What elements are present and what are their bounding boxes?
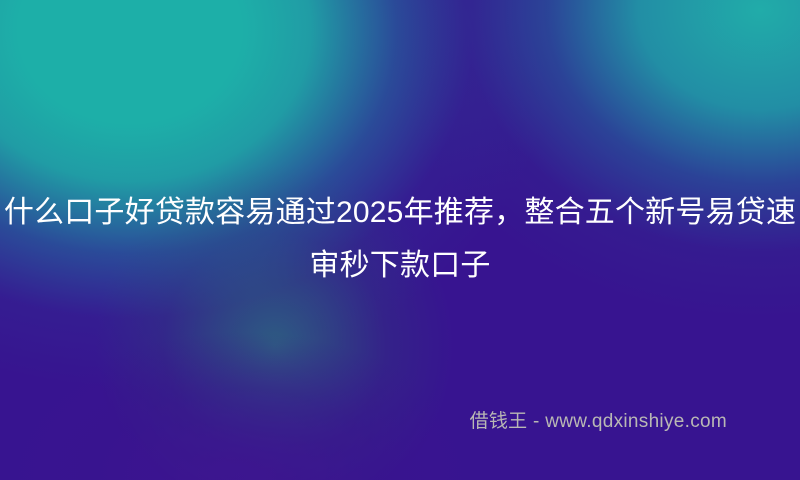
article-banner: 什么口子好贷款容易通过2025年推荐，整合五个新号易贷速审秒下款口子 借钱王 -… bbox=[0, 0, 800, 480]
site-watermark: 借钱王 - www.qdxinshiye.com bbox=[470, 409, 727, 435]
banner-headline: 什么口子好贷款容易通过2025年推荐，整合五个新号易贷速审秒下款口子 bbox=[0, 186, 800, 292]
purple-glow-bottom-decoration bbox=[0, 260, 800, 480]
